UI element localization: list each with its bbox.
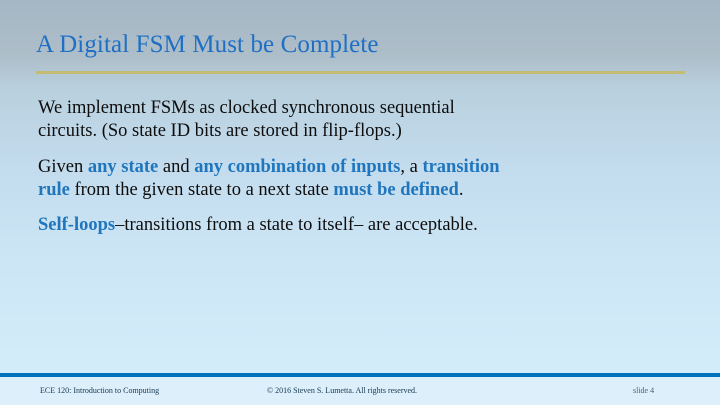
body-paragraph-2: Given any state and any combination of i… bbox=[38, 156, 508, 203]
highlight-any-state: any state bbox=[88, 157, 158, 177]
slide-body: We implement FSMs as clocked synchronous… bbox=[38, 97, 508, 237]
paragraph-3-text-1: –transitions from a state to itself– are… bbox=[115, 215, 478, 235]
paragraph-2-text-5: . bbox=[459, 180, 464, 200]
page-title: A Digital FSM Must be Complete bbox=[36, 30, 686, 60]
footer-course-label: ECE 120: Introduction to Computing bbox=[40, 386, 159, 396]
paragraph-1-text: We implement FSMs as clocked synchronous… bbox=[38, 98, 455, 141]
highlight-self-loops: Self-loops bbox=[38, 215, 115, 235]
slide-title-area: A Digital FSM Must be Complete bbox=[36, 30, 686, 60]
paragraph-2-text-3: , a bbox=[400, 157, 422, 177]
presentation-slide: A Digital FSM Must be Complete We implem… bbox=[0, 0, 720, 405]
body-paragraph-3: Self-loops–transitions from a state to i… bbox=[38, 214, 508, 237]
footer-slide-number: slide 4 bbox=[633, 386, 654, 396]
footer-copyright-label: © 2016 Steven S. Lumetta. All rights res… bbox=[267, 386, 417, 396]
paragraph-2-text-1: Given bbox=[38, 157, 88, 177]
highlight-must-be-defined: must be defined bbox=[333, 180, 458, 200]
title-underline-rule bbox=[36, 71, 685, 74]
highlight-any-combination-of-inputs: any combination of inputs bbox=[194, 157, 400, 177]
body-paragraph-1: We implement FSMs as clocked synchronous… bbox=[38, 97, 508, 144]
paragraph-2-text-2: and bbox=[158, 157, 194, 177]
paragraph-2-text-4: from the given state to a next state bbox=[70, 180, 334, 200]
